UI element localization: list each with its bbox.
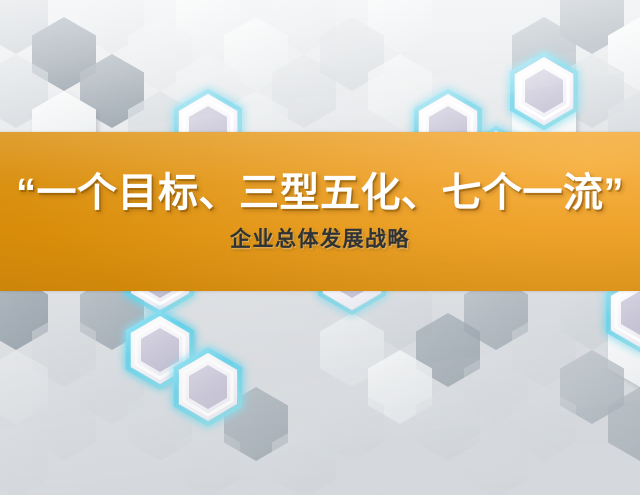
orange-title-band: “一个目标、三型五化、七个一流” 企业总体发展战略 (0, 132, 640, 291)
slide-canvas: “一个目标、三型五化、七个一流” 企业总体发展战略 (0, 0, 640, 495)
page-title: “一个目标、三型五化、七个一流” (10, 172, 630, 214)
page-subtitle: 企业总体发展战略 (230, 228, 410, 251)
